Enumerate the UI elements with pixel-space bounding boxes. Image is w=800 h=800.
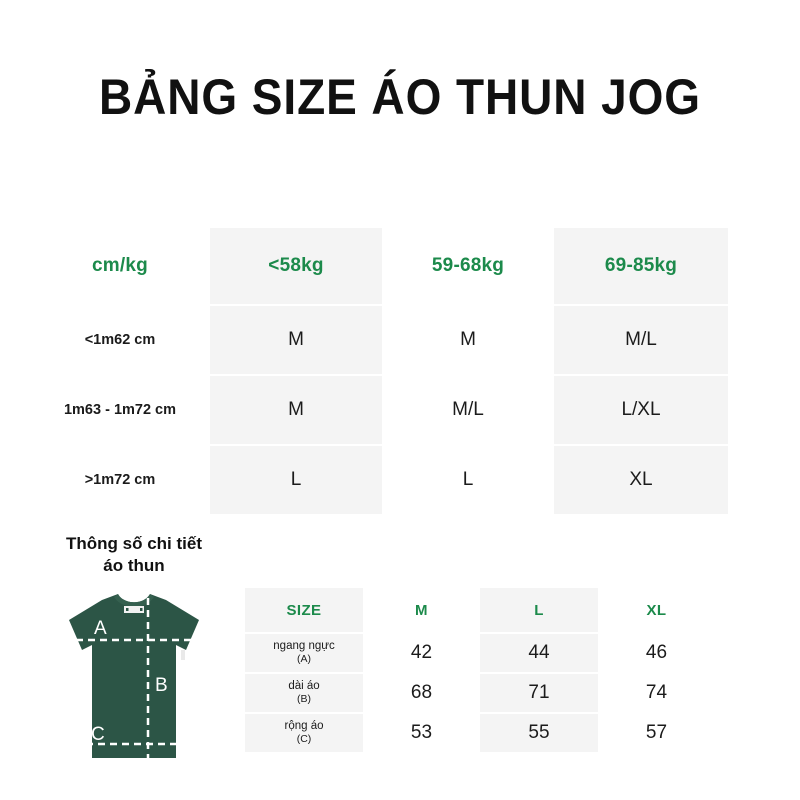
page-title: BẢNG SIZE ÁO THUN JOG: [32, 68, 768, 126]
table-row: >1m72 cm L L XL: [30, 446, 728, 514]
detail-header-row: SIZE M L XL: [245, 588, 715, 632]
measure-label-c: C: [91, 724, 105, 745]
tshirt-icon: A B C: [36, 588, 236, 768]
table-header-row: cm/kg <58kg 59-68kg 69-85kg: [30, 228, 728, 304]
detail-cell-c-l: 55: [480, 714, 598, 752]
detail-cell-b-m: 68: [363, 674, 480, 712]
detail-table-row: rộng áo (C) 53 55 57: [245, 714, 715, 752]
row-label-height-2: 1m63 - 1m72 cm: [30, 376, 210, 444]
cell-r3c2: L: [382, 446, 554, 514]
detail-table-row: dài áo (B) 68 71 74: [245, 674, 715, 712]
measure-label-a: A: [94, 618, 107, 639]
sleeve-tag-icon: [181, 650, 185, 660]
detail-row-label-b: dài áo (B): [245, 674, 363, 712]
detail-heading-line-1: Thông số chi tiết: [66, 534, 202, 553]
header-cell-weight-3: 69-85kg: [554, 228, 728, 304]
detail-row-label-text: ngang ngực: [273, 640, 334, 653]
row-label-height-3: >1m72 cm: [30, 446, 210, 514]
brand-label-mark: [140, 608, 143, 611]
header-cell-weight-1: <58kg: [210, 228, 382, 304]
cell-r2c1: M: [210, 376, 382, 444]
detail-cell-c-xl: 57: [598, 714, 715, 752]
detail-header-xl: XL: [598, 588, 715, 632]
size-recommendation-table: cm/kg <58kg 59-68kg 69-85kg <1m62 cm M M…: [30, 228, 728, 514]
cell-r2c2: M/L: [382, 376, 554, 444]
cell-r1c1: M: [210, 306, 382, 374]
detail-row-label-sub: (C): [297, 733, 312, 746]
header-cell-weight-2: 59-68kg: [382, 228, 554, 304]
detail-row-label-a: ngang ngực (A): [245, 634, 363, 672]
header-cell-cmkg: cm/kg: [30, 228, 210, 304]
detail-cell-b-xl: 74: [598, 674, 715, 712]
detail-row-label-text: rộng áo: [284, 720, 323, 733]
detail-row-label-c: rộng áo (C): [245, 714, 363, 752]
cell-r1c2: M: [382, 306, 554, 374]
detail-section-heading: Thông số chi tiết áo thun: [34, 533, 234, 577]
detail-cell-a-xl: 46: [598, 634, 715, 672]
row-label-height-1: <1m62 cm: [30, 306, 210, 374]
detail-cell-c-m: 53: [363, 714, 480, 752]
detail-row-label-sub: (B): [297, 693, 311, 706]
detail-cell-a-l: 44: [480, 634, 598, 672]
detail-row-label-sub: (A): [297, 653, 311, 666]
detail-spec-table: SIZE M L XL ngang ngực (A) 42 44 46 dài …: [245, 588, 715, 752]
brand-label-mark: [126, 608, 129, 611]
table-row: <1m62 cm M M M/L: [30, 306, 728, 374]
detail-header-m: M: [363, 588, 480, 632]
cell-r3c1: L: [210, 446, 382, 514]
detail-cell-a-m: 42: [363, 634, 480, 672]
cell-r1c3: M/L: [554, 306, 728, 374]
tshirt-measurement-diagram: A B C: [36, 588, 236, 768]
detail-row-label-text: dài áo: [288, 680, 319, 693]
detail-heading-line-2: áo thun: [34, 555, 234, 577]
measure-label-b: B: [155, 675, 168, 696]
detail-table-row: ngang ngực (A) 42 44 46: [245, 634, 715, 672]
tshirt-body: [69, 594, 199, 758]
detail-cell-b-l: 71: [480, 674, 598, 712]
cell-r2c3: L/XL: [554, 376, 728, 444]
detail-header-l: L: [480, 588, 598, 632]
cell-r3c3: XL: [554, 446, 728, 514]
table-row: 1m63 - 1m72 cm M M/L L/XL: [30, 376, 728, 444]
detail-header-size: SIZE: [245, 588, 363, 632]
